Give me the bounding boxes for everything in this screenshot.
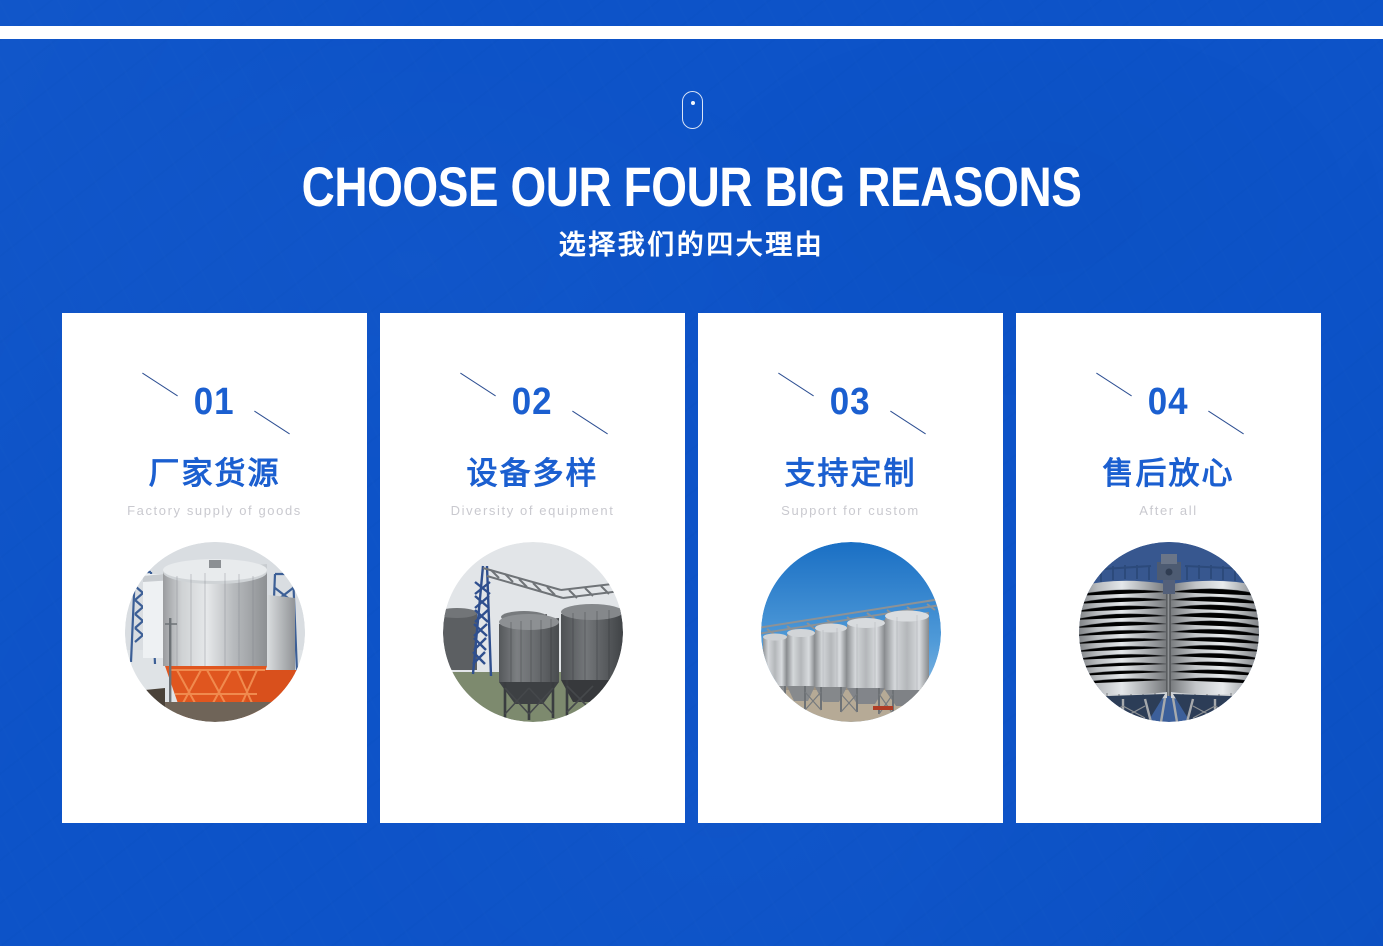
reason-card[interactable]: 03 支持定制 Support for custom [698,313,1003,823]
card-title-cn: 售后放心 [1103,455,1235,493]
section-heading: CHOOSE OUR FOUR BIG REASONS 选择我们的四大理由 [0,156,1383,262]
card-title-cn: 支持定制 [785,455,917,493]
reason-card[interactable]: 02 设备多样 Diversity of equipment [380,313,685,823]
twin-silo-closeup-photo: Close up of two corrugated steel silos a… [1079,542,1259,722]
top-white-divider [0,26,1383,39]
slash-decoration-bottom-right-icon [572,411,608,435]
reason-card-list: 01 厂家货源 Factory supply of goods [62,313,1321,823]
card-number-block: 04 [1089,371,1249,433]
reason-card[interactable]: 01 厂家货源 Factory supply of goods [62,313,367,823]
slash-decoration-top-left-icon [460,373,496,397]
slash-decoration-bottom-right-icon [1208,411,1244,435]
slash-decoration-top-left-icon [778,373,814,397]
steel-silo-orange-frame-photo: Large galvanized steel silo on an orange… [125,542,305,722]
slash-decoration-top-left-icon [1096,373,1132,397]
card-number: 02 [512,383,553,421]
card-number-block: 01 [135,371,295,433]
card-title-en: Factory supply of goods [127,502,302,519]
card-number: 03 [830,383,871,421]
card-title-en: Diversity of equipment [451,502,615,519]
page-title-en: CHOOSE OUR FOUR BIG REASONS [124,156,1258,218]
mouse-scroll-dot [691,101,695,105]
card-title-en: Support for custom [781,502,920,519]
reason-card[interactable]: 04 售后放心 After all [1016,313,1321,823]
grey-silo-cluster-photo: Cluster of dark grey grain silos with co… [443,542,623,722]
card-title-cn: 设备多样 [467,455,599,493]
mouse-scroll-icon[interactable] [682,91,703,129]
card-title-cn: 厂家货源 [149,455,281,493]
silo-row-blue-sky-photo: Row of galvanized silos under a clear bl… [761,542,941,722]
card-number-block: 02 [453,371,613,433]
card-title-en: After all [1139,502,1197,519]
slash-decoration-bottom-right-icon [890,411,926,435]
card-number: 01 [194,383,235,421]
card-number: 04 [1148,383,1189,421]
slash-decoration-bottom-right-icon [254,411,290,435]
promo-page: CHOOSE OUR FOUR BIG REASONS 选择我们的四大理由 01… [0,0,1383,946]
slash-decoration-top-left-icon [142,373,178,397]
page-title-cn: 选择我们的四大理由 [0,228,1383,262]
card-number-block: 03 [771,371,931,433]
